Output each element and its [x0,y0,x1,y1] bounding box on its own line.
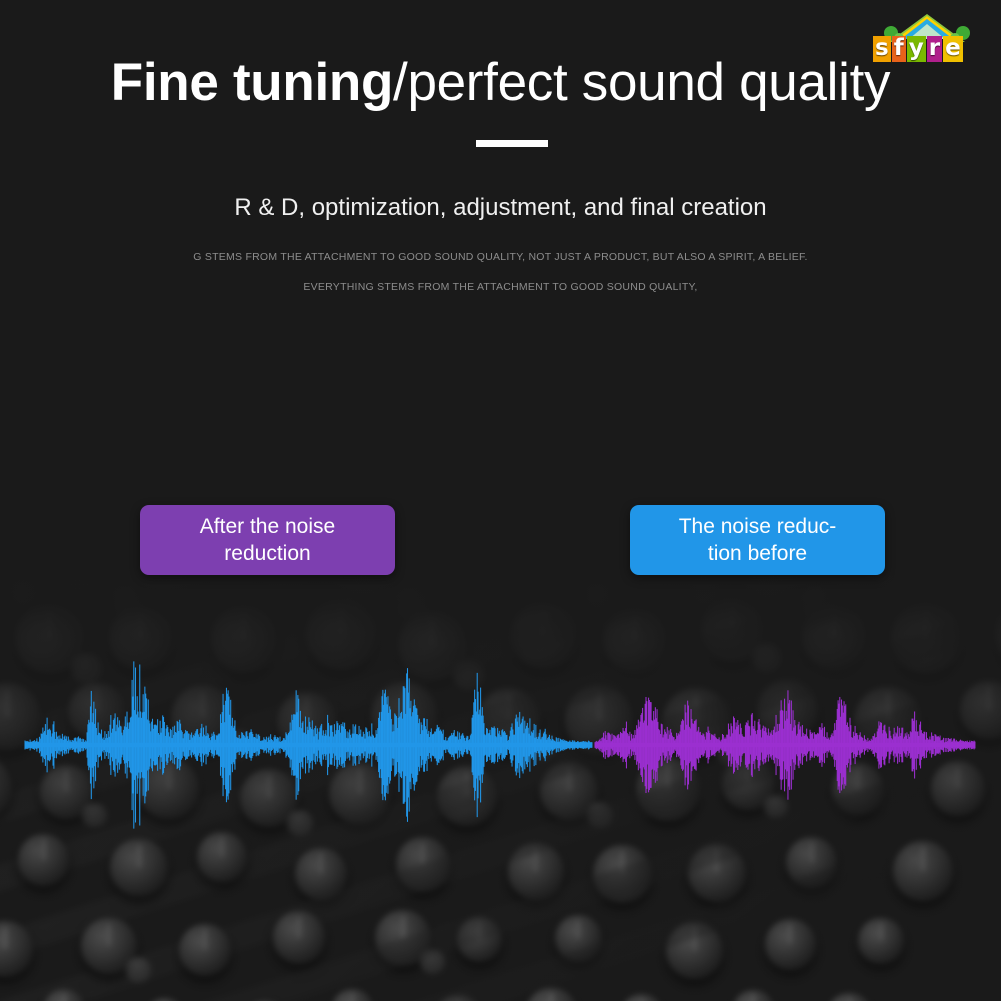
caption-line-1: G STEMS FROM THE ATTACHMENT TO GOOD SOUN… [0,251,1001,263]
page-title: Fine tuning/perfect sound quality [0,52,1001,114]
label-before-noise-reduction: The noise reduc- tion before [630,505,885,575]
title-divider [476,140,548,147]
label-after-line2: reduction [224,542,310,565]
subtitle: R & D, optimization, adjustment, and fin… [0,190,1001,226]
title-light: /perfect sound quality [393,53,890,112]
waveform-svg [0,645,1001,850]
label-after-noise-reduction: After the noise reduction [140,505,395,575]
title-bold: Fine tuning [111,53,393,112]
promo-banner: sfyre Fine tuning/perfect sound quality … [0,0,1001,1001]
label-before-line2: tion before [708,542,807,565]
audio-waveform [0,645,1001,850]
label-before-line1: The noise reduc- [679,515,837,538]
label-after-line1: After the noise [200,515,335,538]
caption-line-2: EVERYTHING STEMS FROM THE ATTACHMENT TO … [0,281,1001,293]
